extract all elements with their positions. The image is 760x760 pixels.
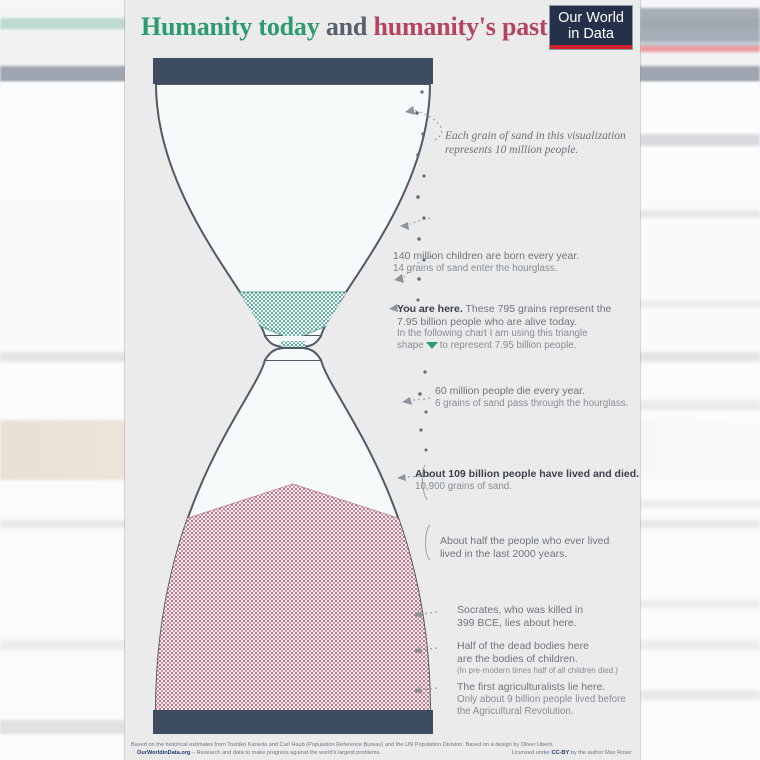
annotation-total-dead-line2: 10,900 grains of sand.: [415, 481, 640, 493]
annotation-total-dead-line1: About 109 billion people have lived and …: [415, 468, 640, 481]
footer-tagline: – Research and data to make progress aga…: [190, 750, 381, 756]
footer-site-line: OurWorldinData.org – Research and data t…: [131, 749, 381, 757]
annotation-total-dead: About 109 billion people have lived and …: [415, 468, 640, 493]
annotation-first-agriculturalists: The first agriculturalists lie here. Onl…: [457, 681, 640, 718]
annotation-half-line1: About half the people who ever lived: [440, 535, 635, 548]
neck-sand: [281, 341, 305, 347]
triangle-label-pre: shape: [397, 340, 424, 351]
annotation-births-line1: 140 million children are born every year…: [393, 250, 613, 263]
annotation-births: 140 million children are born every year…: [393, 250, 613, 275]
screenshot-root: Humanity today and humanity's past Our W…: [0, 0, 760, 760]
footer-row: OurWorldinData.org – Research and data t…: [125, 749, 640, 757]
leader-deaths: [411, 398, 430, 400]
annotation-you-are-here: You are here. These 795 grains represent…: [397, 303, 622, 352]
hourglass-top-cap: [153, 58, 433, 84]
leader-grain-scale-2: [410, 218, 430, 224]
footer-license-pre: Licensed under: [512, 750, 552, 756]
footer-sources: Based on the historical estimates from T…: [125, 741, 640, 749]
leader-socrates: [421, 612, 437, 614]
annotation-children: Half of the dead bodies here are the bod…: [457, 640, 637, 677]
annotation-children-line2: are the bodies of children.: [457, 653, 637, 666]
footer-site-link[interactable]: OurWorldinData.org: [137, 750, 190, 756]
annotation-socrates-line1: Socrates, who was killed in: [457, 604, 637, 617]
triangle-label-post: to represent 7.95 billion people.: [440, 340, 577, 351]
annotation-half-last-2000-years: About half the people who ever lived liv…: [440, 535, 635, 560]
annotation-deaths-line1: 60 million people die every year.: [435, 385, 640, 398]
annotation-you-are-here-line1: You are here. These 795 grains represent…: [397, 303, 622, 316]
hourglass-neck-lower: [265, 348, 321, 360]
annotation-agri-line2: Only about 9 billion people lived before: [457, 694, 640, 706]
green-sand-region: [179, 292, 407, 340]
annotation-grain-scale-line2: represents 10 million people.: [445, 144, 635, 158]
footer: Based on the historical estimates from T…: [125, 741, 640, 757]
red-sand-region: [151, 484, 435, 714]
annotation-half-line2: lived in the last 2000 years.: [440, 548, 635, 561]
half-bracket: [426, 525, 431, 560]
annotation-births-line2: 14 grains of sand enter the hourglass.: [393, 263, 613, 275]
annotation-agri-line1: The first agriculturalists lie here.: [457, 681, 640, 694]
annotation-you-are-here-line2: 7.95 billion people who are alive today.: [397, 316, 622, 329]
footer-license-line: Licensed under CC-BY by the author Max R…: [506, 749, 632, 757]
annotation-socrates-line2: 399 BCE, lies about here.: [457, 617, 637, 630]
annotation-agri-line3: the Agricultural Revolution.: [457, 706, 640, 718]
annotation-deaths-line2: 6 grains of sand pass through the hourgl…: [435, 398, 640, 410]
you-are-here-rest: These 795 grains represent the: [463, 303, 612, 315]
annotation-deaths: 60 million people die every year. 6 grai…: [435, 385, 640, 410]
annotation-children-line1: Half of the dead bodies here: [457, 640, 637, 653]
you-are-here-bold: You are here.: [397, 303, 463, 315]
annotation-you-are-here-line3: In the following chart I am using this t…: [397, 328, 622, 340]
annotation-socrates: Socrates, who was killed in 399 BCE, lie…: [457, 604, 637, 629]
hourglass-bottom-cap: [153, 710, 433, 734]
annotation-grain-scale-line1: Each grain of sand in this visualization: [445, 130, 635, 144]
annotation-grain-scale: Each grain of sand in this visualization…: [445, 130, 635, 157]
triangle-swatch-icon: [426, 342, 438, 349]
infographic-card: Humanity today and humanity's past Our W…: [125, 0, 640, 760]
annotation-you-are-here-line4: shapeto represent 7.95 billion people.: [397, 340, 622, 352]
footer-license-link[interactable]: CC-BY: [551, 750, 569, 756]
annotation-children-line3: (In pre-modern times half of all childre…: [457, 665, 637, 677]
footer-license-post: by the author Max Roser: [569, 750, 632, 756]
